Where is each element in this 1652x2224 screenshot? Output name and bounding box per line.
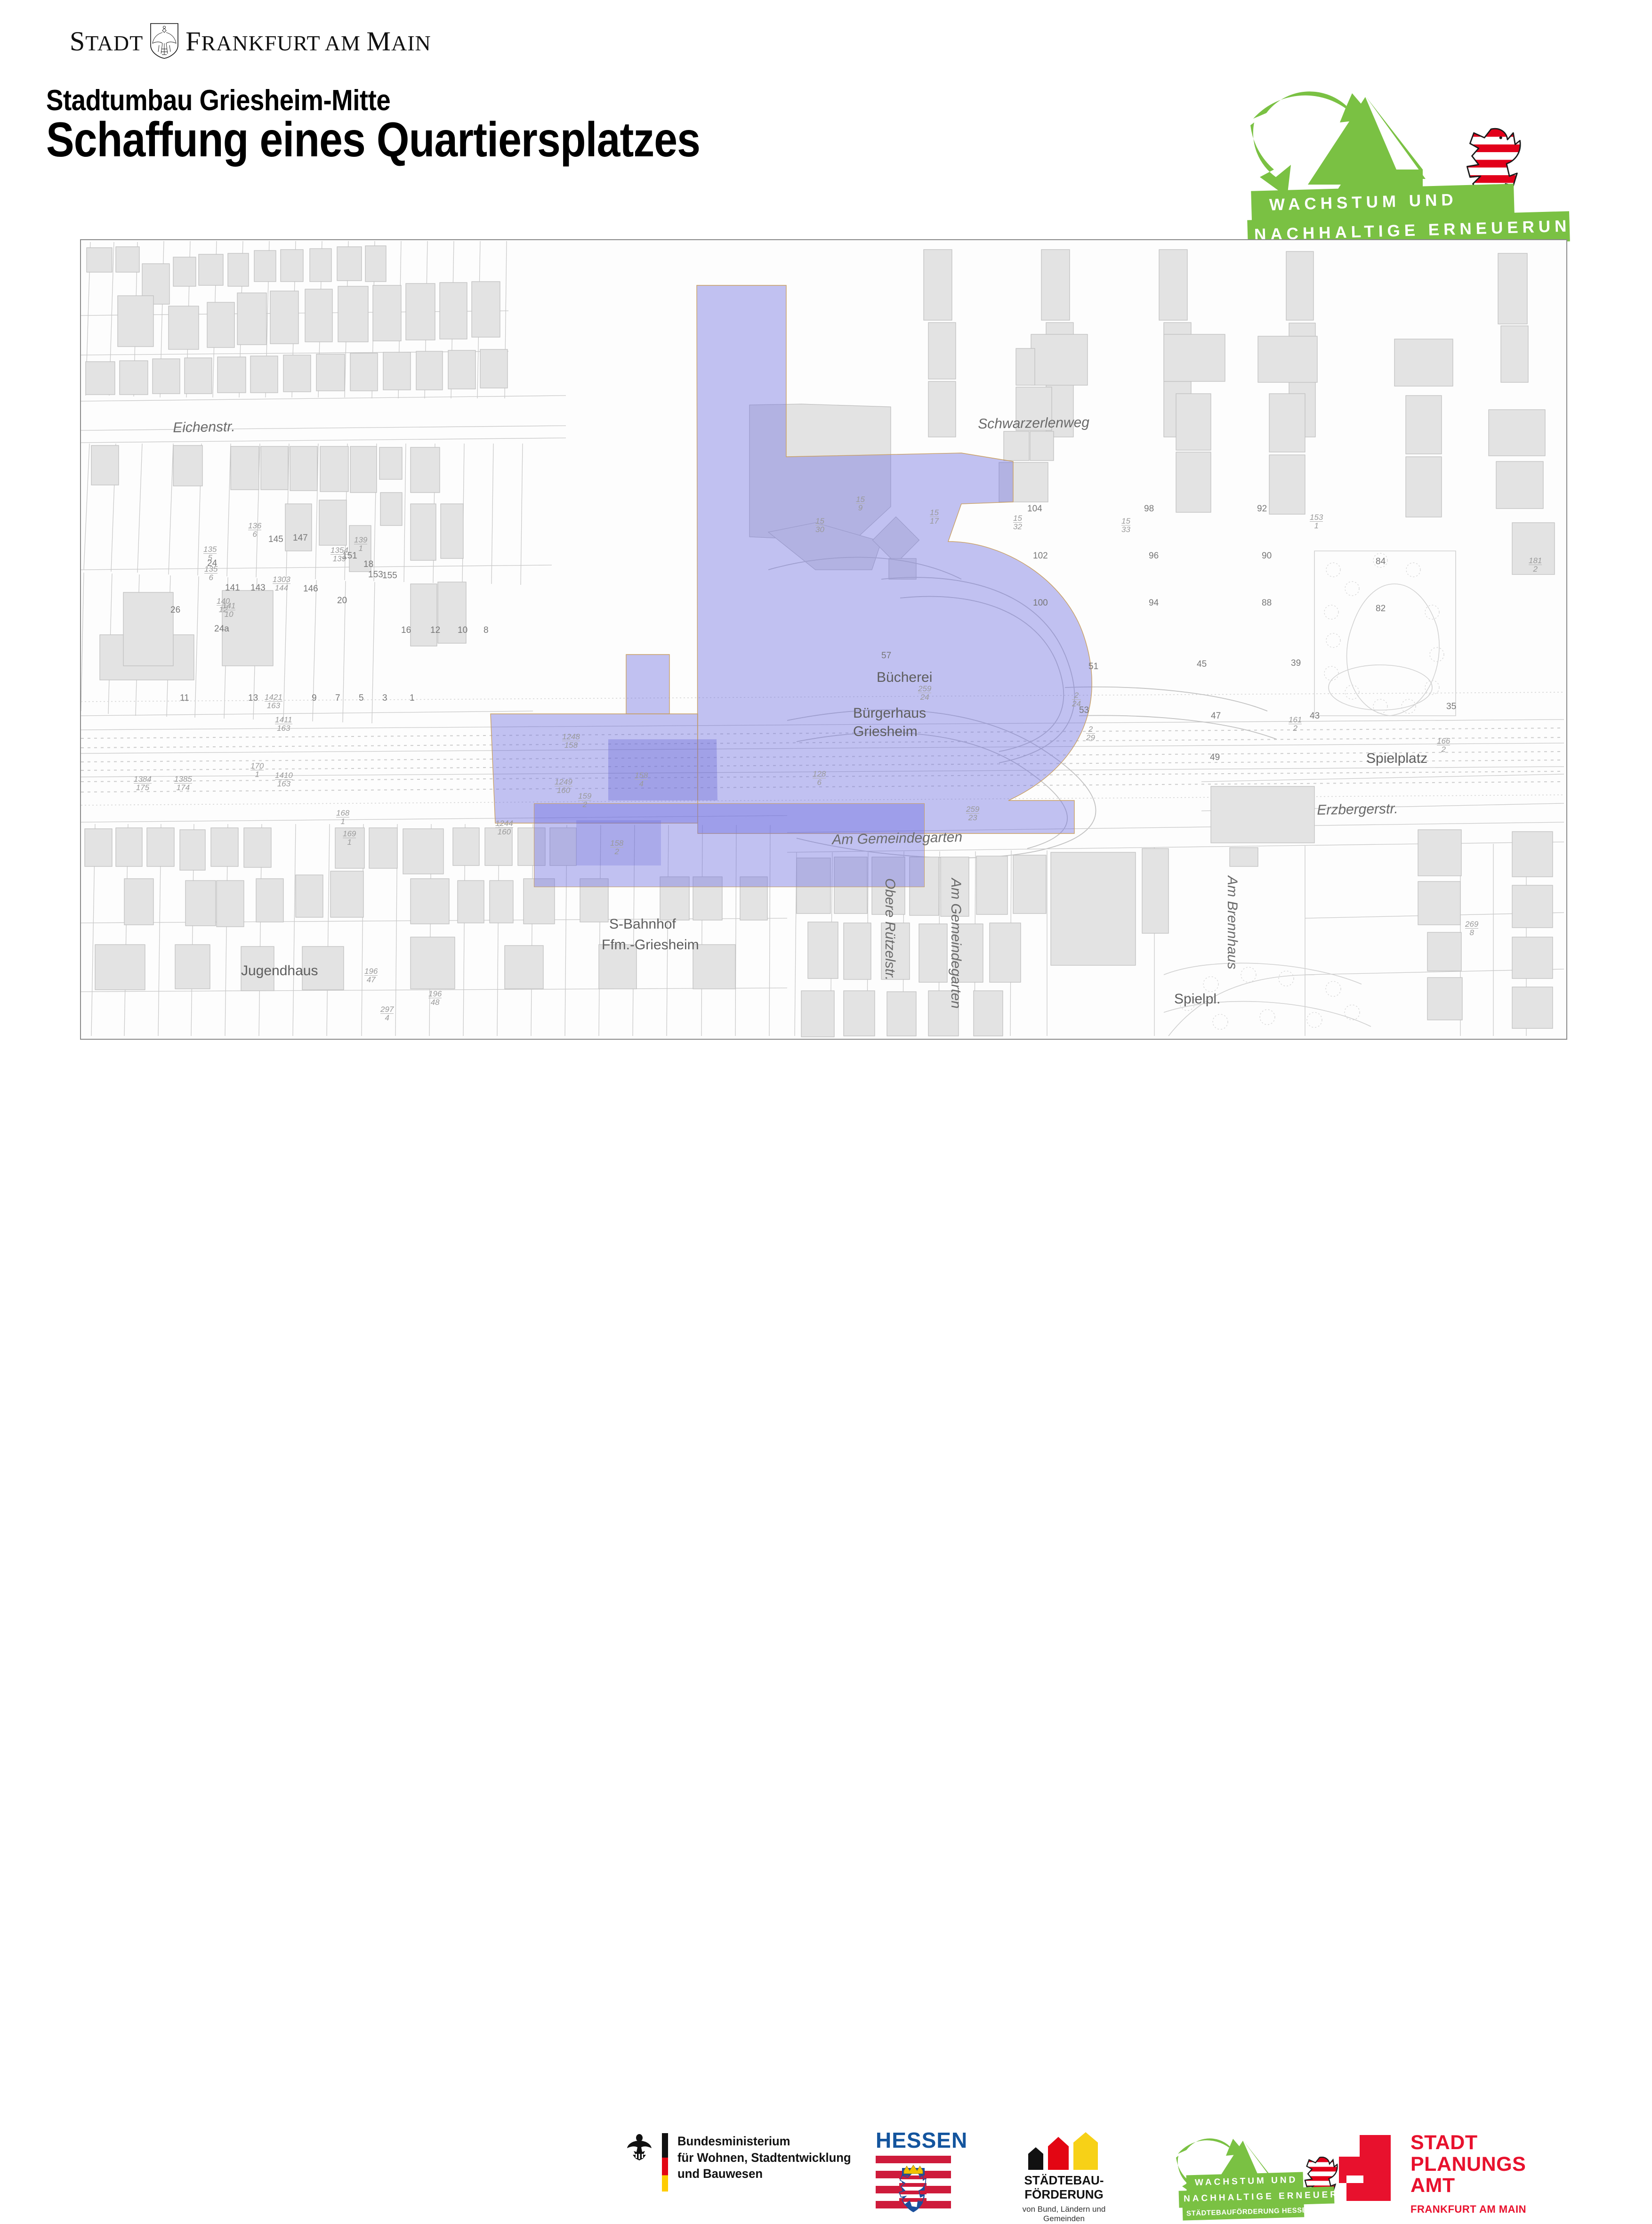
- parcel-number: 1384175: [134, 775, 152, 792]
- house-number: 24: [207, 558, 217, 569]
- house-number: 94: [1149, 598, 1159, 608]
- parcel-number: 1410163: [275, 771, 293, 788]
- staedtebau-line1: STÄDTEBAU-: [1003, 2174, 1125, 2188]
- hessen-shield-icon: [876, 2156, 951, 2216]
- hessen-wordmark: HESSEN: [876, 2127, 967, 2153]
- funding-logo-strip: Bundesministerium für Wohnen, Stadtentwi…: [0, 1059, 1652, 1158]
- parcel-number: 1248158: [562, 733, 580, 750]
- street-label: Am Brennhaus: [1224, 876, 1240, 969]
- house-number: 151: [342, 551, 357, 561]
- house-number: 45: [1197, 659, 1207, 670]
- house-number: 153: [368, 570, 383, 580]
- house-number: 82: [1376, 604, 1386, 614]
- map-vector-layer: [81, 240, 1566, 1039]
- house-number: 9: [312, 693, 317, 704]
- parcel-number: 1286: [813, 770, 826, 787]
- parcel-number: 1303144: [273, 575, 290, 592]
- house-number: 98: [1144, 504, 1154, 514]
- parcel-number: 1812: [1529, 557, 1542, 574]
- house-number: 90: [1262, 551, 1272, 561]
- parcel-number: 1582: [610, 839, 623, 856]
- parcel-number: 1411163: [275, 716, 292, 733]
- three-houses-icon: [1003, 2137, 1125, 2170]
- frankfurt-eagle-crest-icon: [150, 23, 179, 59]
- hessen-state-logo: HESSEN: [876, 2127, 967, 2216]
- house-number: 43: [1310, 711, 1320, 721]
- street-label: Am Gemeindegarten: [948, 878, 964, 1009]
- parcel-number: 2698: [1465, 920, 1478, 937]
- house-number: 11: [180, 693, 189, 704]
- bmwsb-text: Bundesministerium für Wohnen, Stadtentwi…: [677, 2133, 851, 2182]
- house-number: 35: [1446, 702, 1456, 712]
- house-number: 104: [1027, 504, 1042, 514]
- hessen-flag: [876, 2156, 951, 2216]
- page-title: Schaffung eines Quartiersplatzes: [46, 112, 700, 168]
- parcel-number: 1681: [336, 809, 349, 826]
- parcel-number: 1533: [1121, 517, 1130, 534]
- house-number: 141: [225, 583, 240, 593]
- bmwsb-line1: Bundesministerium: [677, 2133, 851, 2150]
- house-number: 10: [458, 625, 467, 636]
- house-number: 96: [1149, 551, 1159, 561]
- bmwsb-line3: und Bauwesen: [677, 2166, 851, 2182]
- german-flag-bar: [662, 2133, 668, 2192]
- stadtplanungsamt-text: STADT PLANUNGS AMT FRANKFURT AM MAIN: [1410, 2132, 1526, 2216]
- house-number: 18: [363, 559, 373, 570]
- parcel-number: 19647: [364, 967, 378, 984]
- house-number: 26: [170, 605, 180, 615]
- parcel-number: 1531: [1310, 513, 1323, 530]
- bmwsb-line2: für Wohnen, Stadtentwicklung: [677, 2150, 851, 2166]
- parcel-number: 1584: [635, 771, 648, 788]
- street-label: Erzbergerstr.: [1317, 801, 1398, 818]
- parcel-number: 1701: [250, 762, 264, 779]
- parcel-number: 1530: [815, 517, 824, 534]
- house-number: 1: [410, 693, 415, 704]
- stadtplanungsamt-logo: STADT PLANUNGS AMT FRANKFURT AM MAIN: [1332, 2132, 1526, 2216]
- street-label: Am Gemeindegarten: [832, 829, 962, 848]
- parcel-number: 19648: [428, 990, 442, 1007]
- city-logo-stadt: STADT: [70, 25, 143, 57]
- parcel-number: 1249160: [555, 778, 572, 795]
- poi-label: Jugendhaus: [241, 963, 318, 979]
- street-label: Eichenstr.: [173, 419, 235, 436]
- house-number: 84: [1376, 557, 1386, 567]
- cadastral-map[interactable]: Eichenstr.SchwarzerlenwegAm Gemeindegart…: [80, 239, 1567, 1040]
- parcel-number: 1517: [930, 509, 939, 526]
- stadtplanungsamt-mark-icon: [1332, 2132, 1394, 2203]
- spa-line1: STADT: [1410, 2132, 1526, 2154]
- parcel-number: 1662: [1437, 737, 1450, 754]
- house-number: 16: [401, 625, 411, 636]
- house-number: 7: [335, 693, 340, 704]
- house-number: 92: [1257, 504, 1267, 514]
- staedtebau-sub2: Gemeinden: [1003, 2214, 1125, 2224]
- poi-label: Griesheim: [853, 724, 918, 740]
- house-number: 88: [1262, 598, 1272, 608]
- poi-label: Spielpl.: [1174, 991, 1220, 1007]
- staedtebau-line2: FÖRDERUNG: [1003, 2188, 1125, 2202]
- house-number: 8: [484, 625, 489, 636]
- parcel-number: 1532: [1013, 514, 1022, 531]
- house-number: 146: [303, 584, 318, 594]
- parcel-number: 159: [856, 495, 865, 512]
- parcel-number: 2974: [380, 1005, 394, 1022]
- spa-line2: PLANUNGS: [1410, 2154, 1526, 2175]
- house-number: 102: [1033, 551, 1048, 561]
- house-number: 13: [248, 693, 258, 704]
- house-number: 5: [359, 693, 364, 704]
- parcel-number: 14110: [222, 602, 235, 619]
- spa-line3: AMT: [1410, 2175, 1526, 2197]
- house-number: 145: [268, 534, 283, 545]
- street-label: Obere Rützelstr.: [882, 878, 898, 980]
- house-number: 12: [430, 625, 440, 636]
- spa-sub: FRANKFURT AM MAIN: [1410, 2203, 1526, 2216]
- parcel-number: 229: [1086, 725, 1095, 742]
- parcel-number: 1691: [343, 830, 356, 847]
- house-number: 57: [881, 651, 891, 661]
- poi-label: Spielplatz: [1366, 751, 1427, 767]
- house-number: 147: [293, 533, 308, 543]
- street-label: Schwarzerlenweg: [978, 415, 1089, 432]
- poi-label: Bücherei: [877, 670, 932, 686]
- parcel-number: 1421163: [265, 693, 282, 710]
- house-number: 47: [1211, 711, 1221, 721]
- house-number: 39: [1291, 658, 1301, 669]
- parcel-number: 25924: [918, 685, 931, 702]
- wne-small-line3: STÄDTEBAUFÖRDERUNG HESSEN: [1183, 2203, 1305, 2220]
- parcel-number: 25923: [966, 805, 979, 822]
- house-number: 100: [1033, 598, 1048, 608]
- house-number: 51: [1088, 662, 1098, 672]
- house-number: 20: [337, 596, 347, 606]
- parcel-number: 1385174: [174, 775, 192, 792]
- parcel-number: 1244160: [495, 819, 513, 836]
- house-number: 155: [382, 571, 397, 581]
- staedtebau-name: STÄDTEBAU- FÖRDERUNG: [1003, 2174, 1125, 2202]
- federal-eagle-icon: [626, 2133, 653, 2162]
- house-number: 53: [1079, 705, 1089, 716]
- poi-label: Ffm.-Griesheim: [602, 937, 699, 953]
- city-logo-frankfurt-am-main: FRANKFURT AM MAIN: [185, 25, 431, 57]
- house-number: 3: [382, 693, 387, 704]
- house-number: 24a: [214, 624, 229, 634]
- parcel-number: 1592: [578, 792, 591, 809]
- house-number: 143: [250, 583, 266, 593]
- city-of-frankfurt-logo: STADT FRANKFURT AM MAIN: [70, 23, 431, 59]
- staedtebaufoerderung-logo: STÄDTEBAU- FÖRDERUNG von Bund, Ländern u…: [1003, 2137, 1125, 2224]
- parcel-number: 1612: [1289, 716, 1302, 733]
- parcel-number: 1391: [354, 536, 367, 553]
- parcel-number: 1366: [248, 522, 261, 539]
- bmwsb-logo: Bundesministerium für Wohnen, Stadtentwi…: [626, 2133, 860, 2192]
- poi-label: Bürgerhaus: [853, 705, 926, 721]
- house-number: 49: [1210, 752, 1220, 763]
- staedtebau-sub: von Bund, Ländern und Gemeinden: [1003, 2205, 1125, 2224]
- staedtebau-sub1: von Bund, Ländern und: [1003, 2205, 1125, 2214]
- poi-label: S-Bahnhof: [609, 916, 676, 932]
